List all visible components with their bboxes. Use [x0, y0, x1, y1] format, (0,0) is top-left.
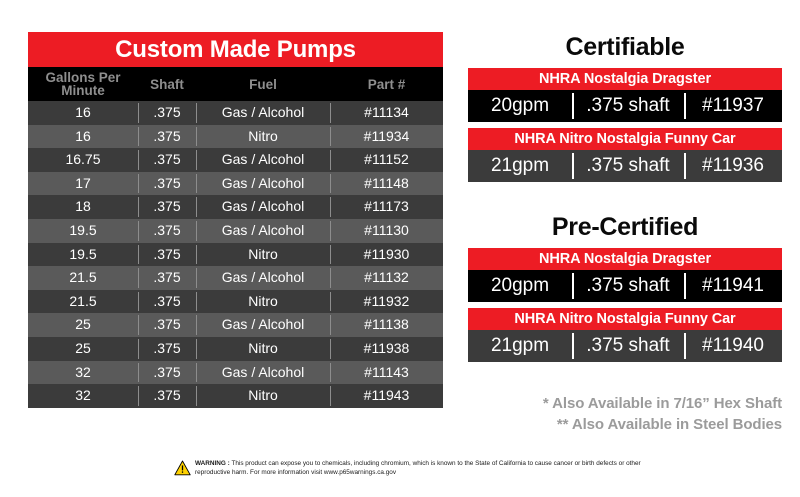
cell-gpm: 16.75 [28, 148, 138, 172]
cell-part: #11941 [684, 270, 782, 302]
table-row: 32.375Nitro#11943 [28, 384, 443, 408]
cell-shaft: .375 [138, 219, 196, 243]
cell-gpm: 21.5 [28, 266, 138, 290]
cell-fuel: Nitro [196, 125, 330, 149]
cell-gpm: 19.5 [28, 219, 138, 243]
band-nhra-nostalgia-dragster: NHRA Nostalgia Dragster [468, 248, 782, 270]
cell-fuel: Gas / Alcohol [196, 195, 330, 219]
cell-gpm: 20gpm [468, 270, 572, 302]
table-row: 18.375Gas / Alcohol#11173 [28, 195, 443, 219]
cell-fuel: Nitro [196, 243, 330, 267]
band-nhra-nitro-nostalgia-funny-car: NHRA Nitro Nostalgia Funny Car [468, 308, 782, 330]
certifiable-table: NHRA Nostalgia Dragster 20gpm .375 shaft… [468, 68, 782, 182]
table-row: 21.5.375Gas / Alcohol#11132 [28, 266, 443, 290]
cell-fuel: Gas / Alcohol [196, 148, 330, 172]
table-body: 16.375Gas / Alcohol#1113416.375Nitro#119… [28, 101, 443, 408]
cell-shaft: .375 shaft [572, 270, 684, 302]
band-nhra-nostalgia-dragster: NHRA Nostalgia Dragster [468, 68, 782, 90]
cell-part: #11930 [330, 243, 443, 267]
cell-shaft: .375 [138, 266, 196, 290]
footnote-steel-bodies: ** Also Available in Steel Bodies [543, 414, 782, 435]
cell-fuel: Gas / Alcohol [196, 266, 330, 290]
cell-part: #11138 [330, 313, 443, 337]
cell-gpm: 17 [28, 172, 138, 196]
custom-made-pumps-table: Custom Made Pumps Gallons Per Minute Sha… [28, 32, 443, 408]
cell-shaft: .375 shaft [572, 150, 684, 182]
warning-text: WARNING : This product can expose you to… [195, 460, 665, 477]
cell-shaft: .375 [138, 361, 196, 385]
cell-gpm: 25 [28, 313, 138, 337]
prop65-warning: WARNING : This product can expose you to… [174, 460, 665, 477]
table-row: 21.5.375Nitro#11932 [28, 290, 443, 314]
cell-part: #11936 [684, 150, 782, 182]
cell-shaft: .375 [138, 384, 196, 408]
table-header-row: Gallons Per Minute Shaft Fuel Part # [28, 67, 443, 101]
table-row: 21gpm .375 shaft #11936 [468, 150, 782, 182]
cell-fuel: Gas / Alcohol [196, 219, 330, 243]
table-row: 20gpm .375 shaft #11937 [468, 90, 782, 122]
cell-part: #11934 [330, 125, 443, 149]
cell-fuel: Nitro [196, 384, 330, 408]
table-row: 32.375Gas / Alcohol#11143 [28, 361, 443, 385]
cell-shaft: .375 [138, 313, 196, 337]
pre-certified-table: NHRA Nostalgia Dragster 20gpm .375 shaft… [468, 248, 782, 362]
cell-part: #11152 [330, 148, 443, 172]
cell-shaft: .375 [138, 243, 196, 267]
table-row: 25.375Nitro#11938 [28, 337, 443, 361]
column-header-gpm: Gallons Per Minute [28, 71, 138, 97]
cell-part: #11173 [330, 195, 443, 219]
table-row: 25.375Gas / Alcohol#11138 [28, 313, 443, 337]
table-row: 19.5.375Nitro#11930 [28, 243, 443, 267]
cell-gpm: 25 [28, 337, 138, 361]
cell-shaft: .375 [138, 337, 196, 361]
cell-part: #11134 [330, 101, 443, 125]
cell-part: #11148 [330, 172, 443, 196]
table-row: 19.5.375Gas / Alcohol#11130 [28, 219, 443, 243]
cell-shaft: .375 [138, 195, 196, 219]
cell-part: #11932 [330, 290, 443, 314]
cell-shaft: .375 [138, 290, 196, 314]
pre-certified-heading: Pre-Certified [465, 213, 785, 242]
band-nhra-nitro-nostalgia-funny-car: NHRA Nitro Nostalgia Funny Car [468, 128, 782, 150]
table-row: 16.75.375Gas / Alcohol#11152 [28, 148, 443, 172]
cell-part: #11943 [330, 384, 443, 408]
cell-gpm: 32 [28, 384, 138, 408]
table-row: 16.375Gas / Alcohol#11134 [28, 101, 443, 125]
cell-fuel: Nitro [196, 337, 330, 361]
table-row: 21gpm .375 shaft #11940 [468, 330, 782, 362]
cell-gpm: 21gpm [468, 150, 572, 182]
cell-fuel: Gas / Alcohol [196, 313, 330, 337]
cell-shaft: .375 [138, 101, 196, 125]
column-header-fuel: Fuel [196, 78, 330, 91]
cell-shaft: .375 [138, 172, 196, 196]
warning-label: WARNING : [195, 460, 230, 467]
warning-triangle-icon [174, 460, 191, 476]
cell-shaft: .375 [138, 125, 196, 149]
certifiable-heading: Certifiable [465, 33, 785, 62]
table-row: 16.375Nitro#11934 [28, 125, 443, 149]
column-header-part: Part # [330, 78, 443, 91]
footnotes: * Also Available in 7/16” Hex Shaft ** A… [543, 393, 782, 435]
cell-gpm: 16 [28, 101, 138, 125]
cell-gpm: 19.5 [28, 243, 138, 267]
cell-part: #11938 [330, 337, 443, 361]
cell-fuel: Gas / Alcohol [196, 101, 330, 125]
table-row: 20gpm .375 shaft #11941 [468, 270, 782, 302]
cell-gpm: 16 [28, 125, 138, 149]
cell-gpm: 21gpm [468, 330, 572, 362]
warning-body: This product can expose you to chemicals… [195, 460, 641, 476]
table-title: Custom Made Pumps [28, 32, 443, 67]
cell-part: #11143 [330, 361, 443, 385]
cell-shaft: .375 shaft [572, 90, 684, 122]
cell-gpm: 20gpm [468, 90, 572, 122]
cell-shaft: .375 shaft [572, 330, 684, 362]
table-row: 17.375Gas / Alcohol#11148 [28, 172, 443, 196]
cell-part: #11132 [330, 266, 443, 290]
column-header-shaft: Shaft [138, 78, 196, 91]
cell-fuel: Gas / Alcohol [196, 361, 330, 385]
cell-gpm: 32 [28, 361, 138, 385]
cell-part: #11937 [684, 90, 782, 122]
cell-gpm: 21.5 [28, 290, 138, 314]
cell-fuel: Nitro [196, 290, 330, 314]
footnote-hex-shaft: * Also Available in 7/16” Hex Shaft [543, 393, 782, 414]
cell-fuel: Gas / Alcohol [196, 172, 330, 196]
cell-shaft: .375 [138, 148, 196, 172]
cell-part: #11940 [684, 330, 782, 362]
cell-gpm: 18 [28, 195, 138, 219]
cell-part: #11130 [330, 219, 443, 243]
